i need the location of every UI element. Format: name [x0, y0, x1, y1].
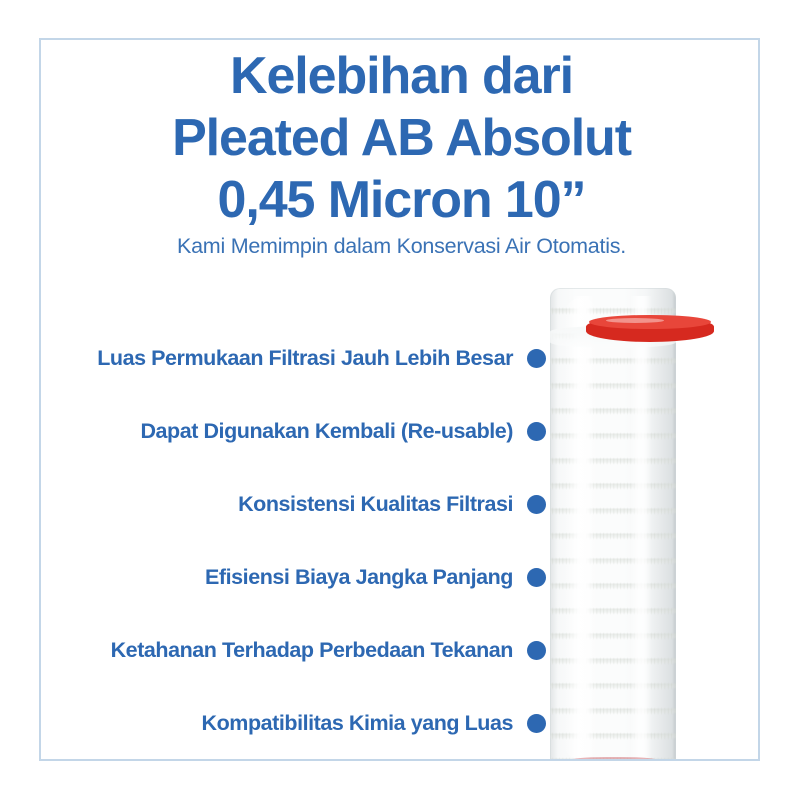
- feature-label: Ketahanan Terhadap Perbedaan Tekanan: [111, 638, 513, 663]
- cartridge-bottom-endcap: [568, 757, 660, 761]
- page-subtitle: Kami Memimpin dalam Konservasi Air Otoma…: [41, 233, 760, 259]
- card-frame: Kelebihan dari Pleated AB Absolut 0,45 M…: [39, 38, 760, 761]
- cartridge-endcap-shine: [606, 318, 664, 323]
- page-title-line-2: Pleated AB Absolut: [41, 107, 760, 169]
- feature-list: Luas Permukaan Filtrasi Jauh Lebih Besar…: [41, 322, 546, 760]
- list-item: Efisiensi Biaya Jangka Panjang: [41, 541, 546, 614]
- list-item: Dapat Digunakan Kembali (Re-usable): [41, 395, 546, 468]
- bullet-dot-icon: [527, 495, 546, 514]
- feature-label: Dapat Digunakan Kembali (Re-usable): [140, 419, 513, 444]
- list-item: Kompatibilitas Kimia yang Luas: [41, 687, 546, 760]
- bullet-dot-icon: [527, 349, 546, 368]
- poster-canvas: Kelebihan dari Pleated AB Absolut 0,45 M…: [0, 0, 801, 800]
- feature-label: Kompatibilitas Kimia yang Luas: [202, 711, 513, 736]
- feature-label: Luas Permukaan Filtrasi Jauh Lebih Besar: [97, 346, 513, 371]
- list-item: Ketahanan Terhadap Perbedaan Tekanan: [41, 614, 546, 687]
- feature-label: Konsistensi Kualitas Filtrasi: [238, 492, 513, 517]
- cartridge-highlight: [564, 298, 598, 760]
- list-item: Konsistensi Kualitas Filtrasi: [41, 468, 546, 541]
- feature-label: Efisiensi Biaya Jangka Panjang: [205, 565, 513, 590]
- bullet-dot-icon: [527, 568, 546, 587]
- list-item: Luas Permukaan Filtrasi Jauh Lebih Besar: [41, 322, 546, 395]
- product-image-filter-cartridge: [546, 276, 681, 761]
- page-title-line-3: 0,45 Micron 10”: [41, 169, 760, 231]
- bullet-dot-icon: [527, 641, 546, 660]
- heading-block: Kelebihan dari Pleated AB Absolut 0,45 M…: [41, 45, 760, 259]
- bullet-dot-icon: [527, 714, 546, 733]
- bullet-dot-icon: [527, 422, 546, 441]
- page-title-line-1: Kelebihan dari: [41, 45, 760, 107]
